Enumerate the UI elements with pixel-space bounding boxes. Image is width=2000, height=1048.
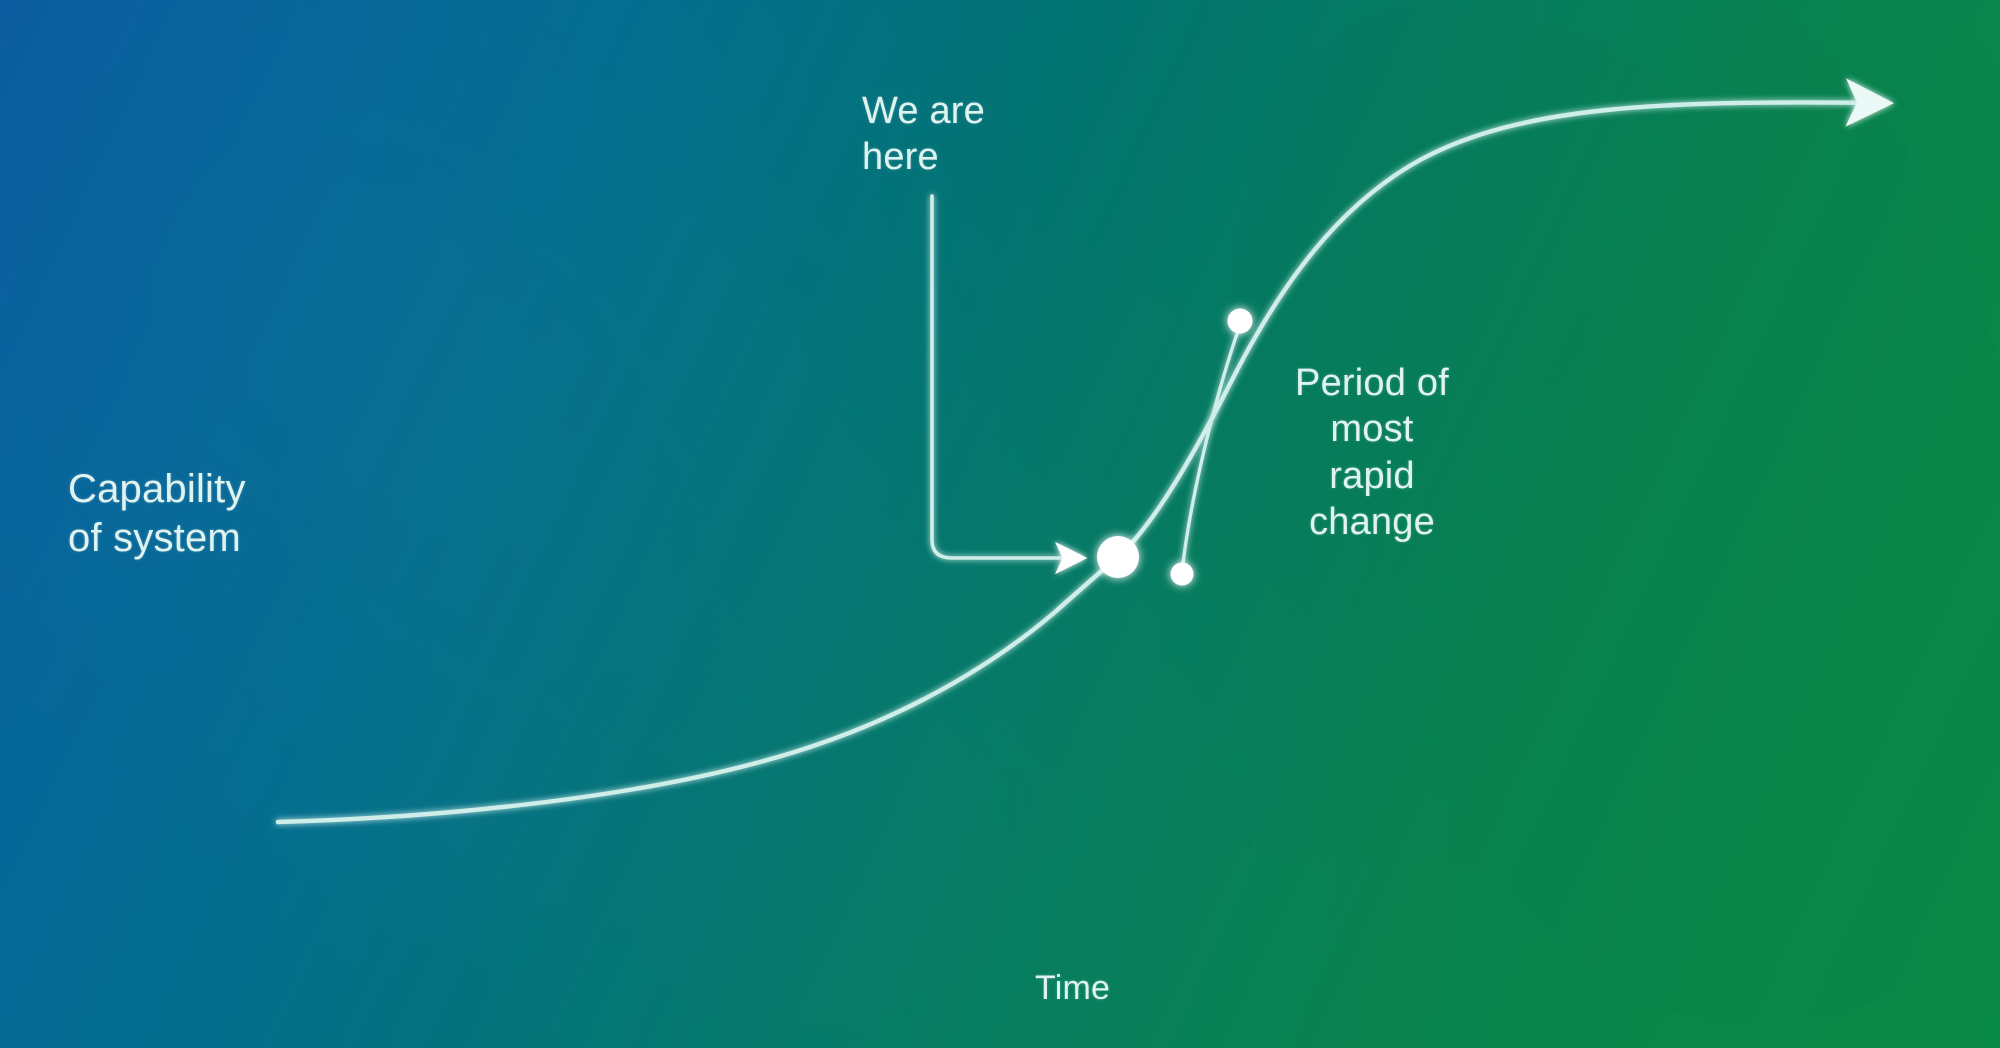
rapid-change-bracket bbox=[1182, 325, 1240, 572]
s-curve bbox=[278, 102, 1886, 822]
current-position-dot[interactable] bbox=[1097, 536, 1139, 578]
period-of-most-rapid-change-label: Period of most rapid change bbox=[1272, 360, 1472, 545]
we-are-here-leader bbox=[932, 196, 1082, 558]
x-axis-label: Time bbox=[1035, 968, 1110, 1009]
rapid-change-upper-dot[interactable] bbox=[1228, 309, 1253, 334]
diagram-canvas: Capability of system Time We are here Pe… bbox=[0, 0, 2000, 1048]
y-axis-label: Capability of system bbox=[68, 465, 246, 563]
we-are-here-leader-line bbox=[932, 196, 1082, 558]
rapid-change-bracket-line bbox=[1182, 325, 1240, 572]
we-are-here-label: We are here bbox=[862, 88, 985, 181]
s-curve-path bbox=[278, 102, 1886, 822]
diagram-vector-layer bbox=[0, 0, 2000, 1048]
rapid-change-lower-dot[interactable] bbox=[1171, 563, 1194, 586]
